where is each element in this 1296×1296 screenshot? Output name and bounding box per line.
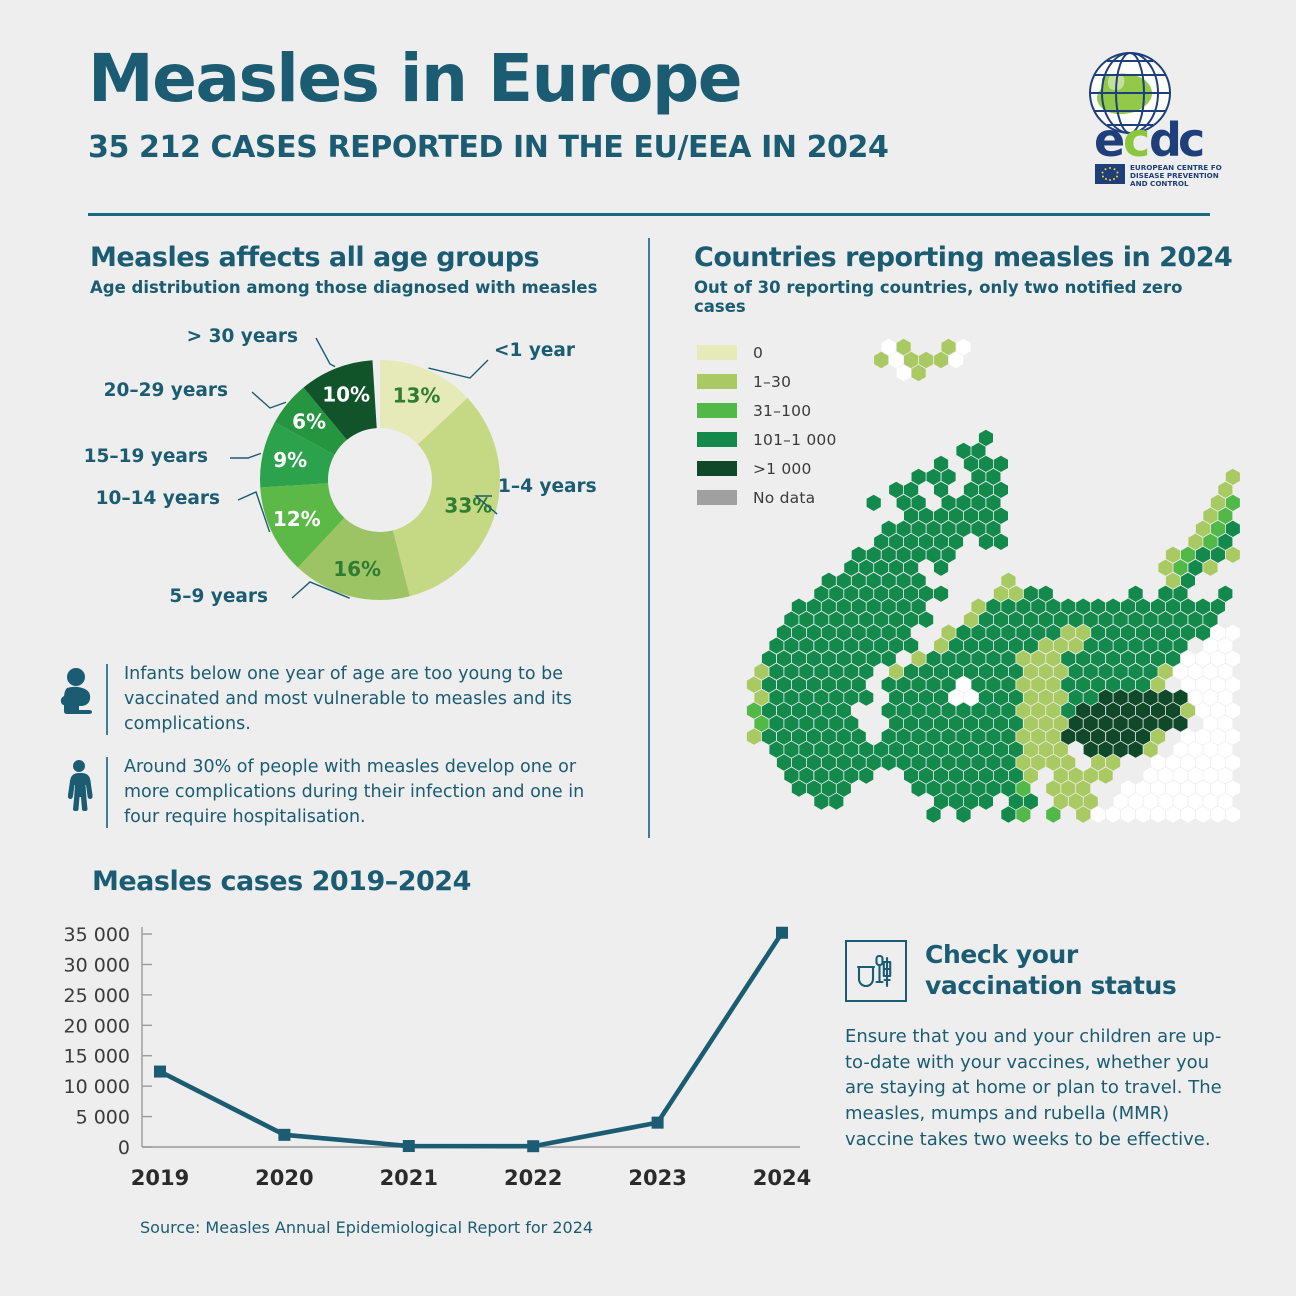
map-hex-cell — [956, 625, 970, 641]
map-hex-cell — [956, 521, 970, 537]
map-hex-cell — [1114, 638, 1128, 654]
map-hex-cell — [949, 352, 963, 368]
header: Measles in Europe 35 212 CASES REPORTED … — [88, 46, 1210, 216]
map-hex-cell — [1166, 625, 1180, 641]
map-hex-cell — [994, 741, 1008, 757]
map-hex-cell — [1136, 728, 1150, 744]
map-hex-cell — [927, 521, 941, 537]
map-hex-cell — [814, 690, 828, 706]
map-hex-cell — [904, 715, 918, 731]
map-hex-cell — [792, 677, 806, 693]
map-hex-cell — [814, 612, 828, 628]
line-section-header: Measles cases 2019–2024 — [92, 866, 792, 897]
map-hex-cell — [1046, 702, 1060, 718]
data-line — [160, 933, 782, 1146]
map-hex-cell — [1218, 638, 1232, 654]
map-hex-cell — [747, 677, 761, 693]
map-hex-cell — [971, 521, 985, 537]
map-hex-cell — [1061, 651, 1075, 667]
map-hex-cell — [1001, 806, 1015, 822]
map-hex-cell — [1218, 741, 1232, 757]
map-hex-cell — [837, 702, 851, 718]
map-hex-cell — [1151, 599, 1165, 615]
map-hex-cell — [979, 664, 993, 680]
map-hex-cell — [964, 715, 978, 731]
y-tick-label: 20 000 — [64, 1015, 130, 1037]
legend-swatch — [697, 490, 737, 505]
map-hex-cell — [1188, 560, 1202, 576]
donut-category-label: 10–14 years — [96, 488, 220, 509]
page-subtitle: 35 212 CASES REPORTED IN THE EU/EEA IN 2… — [88, 130, 1210, 165]
map-hex-cell — [942, 625, 956, 641]
map-hex-cell — [1091, 651, 1105, 667]
map-hex-cell — [1188, 690, 1202, 706]
map-hex-cell — [1181, 651, 1195, 667]
map-hex-cell — [964, 664, 978, 680]
map-hex-cell — [912, 365, 926, 381]
map-hex-cell — [844, 715, 858, 731]
map-hex-cell — [1114, 664, 1128, 680]
infographic-page: Measles in Europe 35 212 CASES REPORTED … — [0, 0, 1296, 1296]
map-section-header: Countries reporting measles in 2024 Out … — [694, 242, 1234, 316]
map-hex-cell — [927, 702, 941, 718]
ecdc-wordmark: e c d c — [1094, 113, 1205, 167]
map-hex-cell — [829, 586, 843, 602]
map-hex-cell — [1069, 612, 1083, 628]
map-hex-cell — [837, 728, 851, 744]
map-hex-cell — [844, 612, 858, 628]
map-hex-cell — [844, 664, 858, 680]
eu-flag-icon — [1095, 164, 1125, 184]
map-hex-cell — [1046, 780, 1060, 796]
map-hex-cell — [986, 495, 1000, 511]
map-hex-cell — [1084, 638, 1098, 654]
map-hex-cell — [912, 599, 926, 615]
map-hex-cell — [956, 806, 970, 822]
map-hex-cell — [904, 352, 918, 368]
map-hex-cell — [837, 599, 851, 615]
map-hex-cell — [844, 586, 858, 602]
map-hex-cell — [807, 625, 821, 641]
map-hex-cell — [1069, 767, 1083, 783]
map-hex-cell — [882, 599, 896, 615]
map-section-title: Countries reporting measles in 2024 — [694, 242, 1234, 273]
data-point-marker — [154, 1066, 166, 1078]
map-hex-cell — [994, 456, 1008, 472]
map-hex-cell — [897, 339, 911, 355]
vaccination-body: Ensure that you and your children are up… — [845, 1024, 1225, 1153]
map-hex-cell — [1069, 664, 1083, 680]
map-hex-cell — [1226, 651, 1240, 667]
map-hex-cell — [927, 651, 941, 667]
map-hex-cell — [912, 754, 926, 770]
map-hex-cell — [1196, 780, 1210, 796]
map-hex-cell — [777, 651, 791, 667]
map-hex-cell — [874, 352, 888, 368]
map-hex-cell — [1054, 741, 1068, 757]
map-hex-cell — [1211, 547, 1225, 563]
map-hex-cell — [1076, 651, 1090, 667]
map-hex-cell — [919, 741, 933, 757]
map-hex-cell — [1114, 715, 1128, 731]
map-hex-cell — [829, 715, 843, 731]
map-hex-cell — [1091, 806, 1105, 822]
map-hex-cell — [874, 586, 888, 602]
map-hex-cell — [1129, 612, 1143, 628]
map-hex-cell — [1084, 741, 1098, 757]
map-hex-cell — [784, 664, 798, 680]
map-hex-cell — [1218, 534, 1232, 550]
donut-value-label: 6% — [292, 409, 326, 433]
map-hex-cell — [912, 547, 926, 563]
map-hex-cell — [1099, 664, 1113, 680]
note-accent-bar — [106, 757, 108, 828]
map-hex-cell — [814, 715, 828, 731]
map-hex-cell — [859, 767, 873, 783]
map-hex-cell — [1166, 780, 1180, 796]
map-hex-cell — [994, 612, 1008, 628]
map-hex-cell — [1188, 741, 1202, 757]
map-hex-cell — [1009, 638, 1023, 654]
map-hex-cell — [912, 495, 926, 511]
note-text: Around 30% of people with measles develo… — [124, 755, 616, 830]
age-section-header: Measles affects all age groups Age distr… — [90, 242, 630, 297]
map-hex-cell — [994, 664, 1008, 680]
map-hex-cell — [964, 508, 978, 524]
map-hex-cell — [934, 767, 948, 783]
map-hex-cell — [986, 521, 1000, 537]
map-hex-cell — [1166, 754, 1180, 770]
leader-line — [316, 338, 335, 367]
svg-text:c: c — [1123, 113, 1150, 167]
map-hex-cell — [1016, 806, 1030, 822]
map-hex-cell — [777, 728, 791, 744]
map-hex-cell — [1136, 702, 1150, 718]
map-hex-cell — [1024, 741, 1038, 757]
map-hex-cell — [762, 677, 776, 693]
map-hex-cell — [1129, 793, 1143, 809]
map-hex-cell — [964, 741, 978, 757]
map-hex-cell — [814, 664, 828, 680]
map-hex-cell — [986, 677, 1000, 693]
map-hex-cell — [1084, 793, 1098, 809]
map-hex-cell — [769, 638, 783, 654]
x-tick-label: 2022 — [504, 1166, 562, 1190]
map-hex-cell — [1046, 754, 1060, 770]
map-hex-cell — [986, 625, 1000, 641]
y-tick-label: 15 000 — [64, 1046, 130, 1068]
map-hex-cell — [1016, 754, 1030, 770]
note-accent-bar — [106, 664, 108, 735]
map-hex-cell — [1136, 780, 1150, 796]
y-tick-label: 25 000 — [64, 985, 130, 1007]
map-hex-cell — [1181, 780, 1195, 796]
map-hex-cell — [1218, 767, 1232, 783]
map-hex-cell — [1181, 806, 1195, 822]
map-hex-cell — [986, 651, 1000, 667]
map-hex-cell — [1211, 677, 1225, 693]
map-hex-cell — [852, 625, 866, 641]
map-hex-cell — [1158, 715, 1172, 731]
map-hex-cell — [859, 612, 873, 628]
map-hex-cell — [1158, 638, 1172, 654]
map-hex-cell — [949, 664, 963, 680]
map-hex-cell — [784, 715, 798, 731]
map-hex-cell — [1129, 690, 1143, 706]
column-divider — [648, 238, 650, 838]
map-hex-cell — [799, 741, 813, 757]
map-hex-cell — [1001, 573, 1015, 589]
map-hex-cell — [1114, 690, 1128, 706]
map-hex-cell — [942, 754, 956, 770]
map-hex-cell — [949, 534, 963, 550]
map-hex-cell — [1181, 625, 1195, 641]
map-hex-cell — [1166, 806, 1180, 822]
map-hex-cell — [1084, 612, 1098, 628]
map-hex-cell — [1144, 741, 1158, 757]
vaccination-header: Check your vaccination status — [845, 940, 1225, 1002]
map-hex-cell — [994, 638, 1008, 654]
map-hex-cell — [1001, 728, 1015, 744]
map-hex-cell — [792, 702, 806, 718]
map-hex-cell — [1226, 780, 1240, 796]
map-hex-cell — [1024, 664, 1038, 680]
map-hex-cell — [956, 443, 970, 459]
map-hex-cell — [822, 625, 836, 641]
map-hex-cell — [904, 534, 918, 550]
map-hex-cell — [814, 741, 828, 757]
map-hex-cell — [956, 728, 970, 744]
map-hex-cell — [964, 612, 978, 628]
map-hex-cell — [1173, 690, 1187, 706]
map-hex-cell — [867, 651, 881, 667]
ecdc-logo: e c d c EUROPEAN CENTRE FOR DISEASE PREV… — [1062, 48, 1222, 188]
map-hex-cell — [927, 780, 941, 796]
map-hex-cell — [971, 495, 985, 511]
map-hex-cell — [942, 521, 956, 537]
map-hex-cell — [1031, 754, 1045, 770]
map-hex-cell — [874, 612, 888, 628]
map-hex-cell — [1069, 638, 1083, 654]
map-hex-cell — [1218, 482, 1232, 498]
map-hex-cell — [1218, 715, 1232, 731]
map-hex-cell — [882, 728, 896, 744]
map-hex-cell — [1106, 677, 1120, 693]
map-hex-cell — [1226, 702, 1240, 718]
map-hex-cell — [1061, 625, 1075, 641]
map-hex-cell — [1129, 715, 1143, 731]
map-hex-cell — [859, 741, 873, 757]
map-hex-cell — [919, 534, 933, 550]
map-hex-cell — [1196, 521, 1210, 537]
y-tick-label: 35 000 — [64, 924, 130, 946]
map-hex-cell — [1211, 495, 1225, 511]
map-hex-cell — [1188, 612, 1202, 628]
map-hex-cell — [1166, 702, 1180, 718]
map-hex-cell — [1203, 508, 1217, 524]
map-hex-cell — [807, 702, 821, 718]
map-hex-cell — [1054, 767, 1068, 783]
map-hex-cell — [1173, 715, 1187, 731]
map-hex-cell — [777, 754, 791, 770]
map-hex-cell — [979, 534, 993, 550]
map-hex-cell — [949, 508, 963, 524]
map-hex-cell — [1173, 664, 1187, 680]
map-hex-cell — [1151, 754, 1165, 770]
map-hex-cell — [1166, 599, 1180, 615]
map-hex-cell — [769, 741, 783, 757]
x-tick-label: 2024 — [753, 1166, 811, 1190]
note-infants: Infants below one year of age are too yo… — [56, 662, 616, 737]
map-hex-cell — [964, 690, 978, 706]
map-hex-cell — [754, 715, 768, 731]
map-hex-cell — [897, 365, 911, 381]
map-hex-cell — [1181, 677, 1195, 693]
map-hex-cell — [1091, 677, 1105, 693]
map-hex-cell — [867, 547, 881, 563]
map-hex-cell — [1181, 702, 1195, 718]
map-hex-cell — [1121, 625, 1135, 641]
map-hex-cell — [956, 651, 970, 667]
map-hex-cell — [1061, 780, 1075, 796]
y-tick-label: 30 000 — [64, 954, 130, 976]
data-point-marker — [776, 927, 788, 939]
map-hex-cell — [897, 521, 911, 537]
map-hex-cell — [1151, 651, 1165, 667]
map-hex-cell — [852, 599, 866, 615]
map-hex-cell — [1046, 806, 1060, 822]
map-hex-cell — [807, 677, 821, 693]
map-hex-cell — [1009, 741, 1023, 757]
map-hex-cell — [799, 690, 813, 706]
map-hex-cell — [912, 728, 926, 744]
map-hex-cell — [1188, 534, 1202, 550]
map-hex-cell — [971, 599, 985, 615]
header-divider — [88, 213, 1210, 216]
map-hex-cell — [859, 664, 873, 680]
map-hex-cell — [956, 702, 970, 718]
map-hex-cell — [1226, 495, 1240, 511]
map-hex-cell — [964, 793, 978, 809]
map-hex-cell — [889, 612, 903, 628]
map-hex-cell — [897, 702, 911, 718]
x-tick-label: 2021 — [380, 1166, 438, 1190]
map-hex-cell — [784, 767, 798, 783]
map-hex-cell — [889, 482, 903, 498]
map-hex-cell — [1009, 586, 1023, 602]
map-hex-cell — [1091, 702, 1105, 718]
map-hex-cell — [971, 702, 985, 718]
donut-value-label: 16% — [333, 557, 381, 581]
map-hex-cell — [1196, 625, 1210, 641]
age-donut-chart: 13%33%16%12%9%6%10% <1 year1–4 years5–9 … — [80, 320, 640, 640]
map-hex-cell — [1211, 780, 1225, 796]
map-hex-cell — [1196, 728, 1210, 744]
map-hex-cell — [1121, 651, 1135, 667]
map-hex-cell — [1024, 793, 1038, 809]
age-section-title: Measles affects all age groups — [90, 242, 630, 273]
map-hex-cell — [912, 573, 926, 589]
map-hex-cell — [822, 754, 836, 770]
map-hex-cell — [897, 547, 911, 563]
map-hex-cell — [971, 469, 985, 485]
map-hex-cell — [829, 638, 843, 654]
map-hex-cell — [1024, 638, 1038, 654]
map-hex-cell — [979, 508, 993, 524]
map-hex-cell — [1196, 702, 1210, 718]
map-hex-cell — [979, 690, 993, 706]
map-hex-cell — [1091, 625, 1105, 641]
x-tick-label: 2023 — [628, 1166, 686, 1190]
map-section-subtitle: Out of 30 reporting countries, only two … — [694, 278, 1234, 316]
map-hex-cell — [769, 690, 783, 706]
map-hex-cell — [844, 638, 858, 654]
age-section-subtitle: Age distribution among those diagnosed w… — [90, 278, 630, 297]
map-hex-cell — [994, 767, 1008, 783]
map-hex-cell — [1166, 547, 1180, 563]
map-hex-cell — [867, 495, 881, 511]
map-hex-cell — [837, 677, 851, 693]
map-hex-cell — [942, 702, 956, 718]
map-hex-cell — [1009, 690, 1023, 706]
map-hex-cell — [822, 677, 836, 693]
map-hex-cell — [994, 482, 1008, 498]
donut-value-label: 10% — [322, 382, 370, 406]
page-title: Measles in Europe — [88, 46, 1210, 112]
map-hex-cell — [1061, 754, 1075, 770]
map-hex-cell — [1203, 638, 1217, 654]
map-hex-cell — [1016, 728, 1030, 744]
map-hex-cell — [1106, 599, 1120, 615]
map-hex-cell — [754, 690, 768, 706]
map-hex-cell — [979, 638, 993, 654]
map-hex-cell — [1016, 780, 1030, 796]
map-hex-cell — [1009, 715, 1023, 731]
map-hex-cell — [829, 767, 843, 783]
map-hex-cell — [1218, 690, 1232, 706]
map-hex-cell — [1016, 599, 1030, 615]
map-hex-cell — [1211, 806, 1225, 822]
map-hex-cell — [1151, 780, 1165, 796]
note-text: Infants below one year of age are too yo… — [124, 662, 616, 737]
map-hex-cell — [874, 534, 888, 550]
map-hex-cell — [1114, 741, 1128, 757]
map-hex-cell — [867, 573, 881, 589]
map-hex-cell — [904, 586, 918, 602]
map-hex-cell — [1181, 754, 1195, 770]
map-hex-cell — [1016, 651, 1030, 667]
map-hex-cell — [822, 702, 836, 718]
map-hex-cell — [1218, 508, 1232, 524]
donut-category-label: 20–29 years — [104, 380, 228, 401]
map-hex-cell — [1046, 677, 1060, 693]
map-hex-cell — [904, 664, 918, 680]
donut-category-label: 1–4 years — [498, 476, 597, 497]
map-hex-cell — [822, 573, 836, 589]
map-hex-cell — [1084, 715, 1098, 731]
map-hex-cell — [867, 754, 881, 770]
map-hex-cell — [1001, 754, 1015, 770]
map-hex-cell — [792, 599, 806, 615]
map-hex-cell — [942, 495, 956, 511]
map-hex-cell — [1203, 715, 1217, 731]
map-hex-cell — [1151, 702, 1165, 718]
map-hex-cell — [1076, 702, 1090, 718]
map-hex-cell — [1203, 664, 1217, 680]
map-hex-cell — [829, 793, 843, 809]
map-hex-cell — [889, 715, 903, 731]
map-hex-cell — [1001, 780, 1015, 796]
